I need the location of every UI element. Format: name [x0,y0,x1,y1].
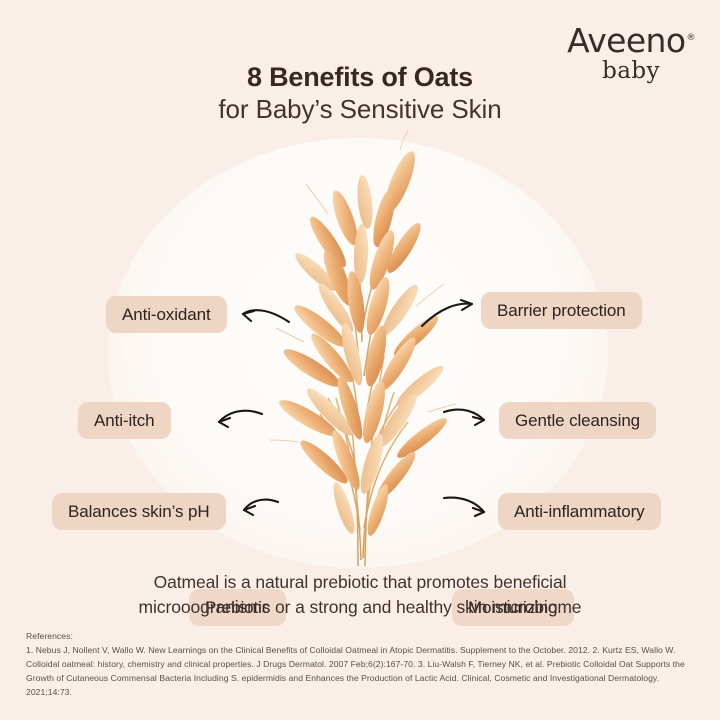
caption-line-1: Oatmeal is a natural prebiotic that prom… [60,570,660,595]
title-secondary: for Baby’s Sensitive Skin [0,94,720,126]
benefit-label: Gentle cleansing [515,412,640,429]
registered-trademark-icon: ® [686,33,694,43]
brand-name: Aveeno® [567,24,695,57]
benefits-diagram: Anti-oxidant Anti-itch Balances skin’s p… [0,130,720,570]
references-body: 1. Nebus J, Nollent V, Wallo W. New Lear… [26,644,694,700]
benefit-pill-anti-oxidant[interactable]: Anti-oxidant [106,296,227,333]
benefit-label: Anti-itch [94,412,155,429]
page-title: 8 Benefits of Oats for Baby’s Sensitive … [0,62,720,126]
references-heading: References: [26,630,694,644]
benefit-pill-barrier-protection[interactable]: Barrier protection [481,292,642,329]
oat-sprig-illustration [232,130,492,570]
benefit-pill-anti-inflammatory[interactable]: Anti-inflammatory [498,493,661,530]
summary-caption: Oatmeal is a natural prebiotic that prom… [60,570,660,620]
benefit-pill-balances-skin-ph[interactable]: Balances skin’s pH [52,493,226,530]
benefit-label: Balances skin’s pH [68,503,210,520]
infographic-root: Aveeno® baby 8 Benefits of Oats for Baby… [0,0,720,720]
title-primary: 8 Benefits of Oats [0,62,720,94]
caption-line-2: microoogranisms or a strong and healthy … [60,595,660,620]
benefit-label: Anti-oxidant [122,306,211,323]
brand-name-text: Aveeno [567,21,685,60]
benefit-label: Barrier protection [497,302,626,319]
benefit-pill-anti-itch[interactable]: Anti-itch [78,402,171,439]
benefit-label: Anti-inflammatory [514,503,645,520]
references-block: References: 1. Nebus J, Nollent V, Wallo… [26,630,694,700]
benefit-pill-gentle-cleansing[interactable]: Gentle cleansing [499,402,656,439]
